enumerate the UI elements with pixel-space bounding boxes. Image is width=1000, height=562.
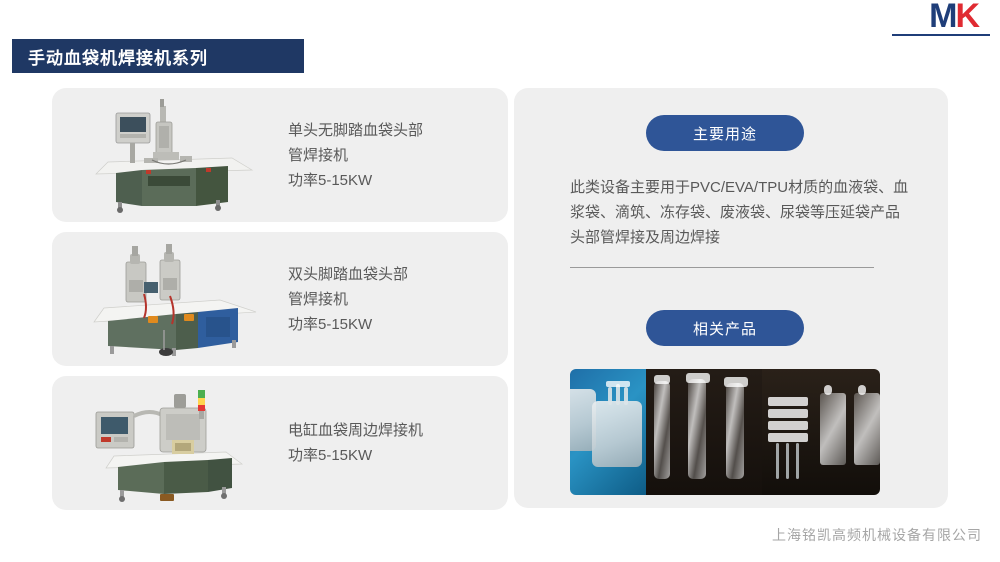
logo-text: MK — [929, 0, 978, 34]
related-products-badge-label: 相关产品 — [693, 318, 757, 339]
single-head-blood-bag-welder-photo — [56, 94, 282, 216]
product-title-line1: 单头无脚踏血袋头部 — [288, 122, 423, 139]
main-usage-badge-label: 主要用途 — [693, 123, 757, 144]
product-power: 功率5-15KW — [288, 316, 372, 333]
collage-pane-pouches — [762, 369, 880, 495]
product-description: 单头无脚踏血袋头部管焊接机功率5-15KW — [288, 118, 423, 193]
double-head-pedal-blood-bag-welder-photo — [56, 238, 282, 360]
product-card[interactable]: 双头脚踏血袋头部管焊接机功率5-15KW — [52, 232, 508, 366]
product-power: 功率5-15KW — [288, 447, 372, 464]
logo-letter-m: M — [929, 0, 955, 35]
company-logo: MK — [884, 0, 994, 40]
main-usage-badge[interactable]: 主要用途 — [646, 115, 804, 151]
related-products-badge[interactable]: 相关产品 — [646, 310, 804, 346]
product-description: 双头脚踏血袋头部管焊接机功率5-15KW — [288, 262, 408, 337]
collage-pane-drip-chambers — [646, 369, 762, 495]
product-description: 电缸血袋周边焊接机功率5-15KW — [288, 418, 423, 468]
slide-root: MK 手动血袋机焊接机系列 — [0, 0, 1000, 562]
product-list: 单头无脚踏血袋头部管焊接机功率5-15KW — [52, 88, 508, 508]
page-title: 手动血袋机焊接机系列 — [28, 44, 208, 69]
electric-cylinder-blood-bag-perimeter-welder-photo — [56, 382, 282, 504]
logo-underline — [892, 34, 990, 36]
product-title-line1: 双头脚踏血袋头部 — [288, 266, 408, 283]
product-title-line2: 管焊接机 — [288, 147, 348, 164]
product-title-line1: 电缸血袋周边焊接机 — [288, 422, 423, 439]
info-panel: 主要用途 此类设备主要用于PVC/EVA/TPU材质的血液袋、血浆袋、滴筑、冻存… — [514, 88, 948, 508]
product-card[interactable]: 单头无脚踏血袋头部管焊接机功率5-15KW — [52, 88, 508, 222]
product-power: 功率5-15KW — [288, 172, 372, 189]
product-title-line2: 管焊接机 — [288, 291, 348, 308]
collage-pane-blood-bags — [570, 369, 646, 495]
section-title-bar: 手动血袋机焊接机系列 — [12, 39, 304, 73]
product-card[interactable]: 电缸血袋周边焊接机功率5-15KW — [52, 376, 508, 510]
section-divider — [570, 267, 874, 268]
logo-letter-k: K — [955, 0, 978, 35]
usage-description: 此类设备主要用于PVC/EVA/TPU材质的血液袋、血浆袋、滴筑、冻存袋、废液袋… — [570, 175, 910, 250]
footer-company-name: 上海铭凯高频机械设备有限公司 — [772, 525, 982, 545]
related-products-collage — [570, 369, 880, 495]
